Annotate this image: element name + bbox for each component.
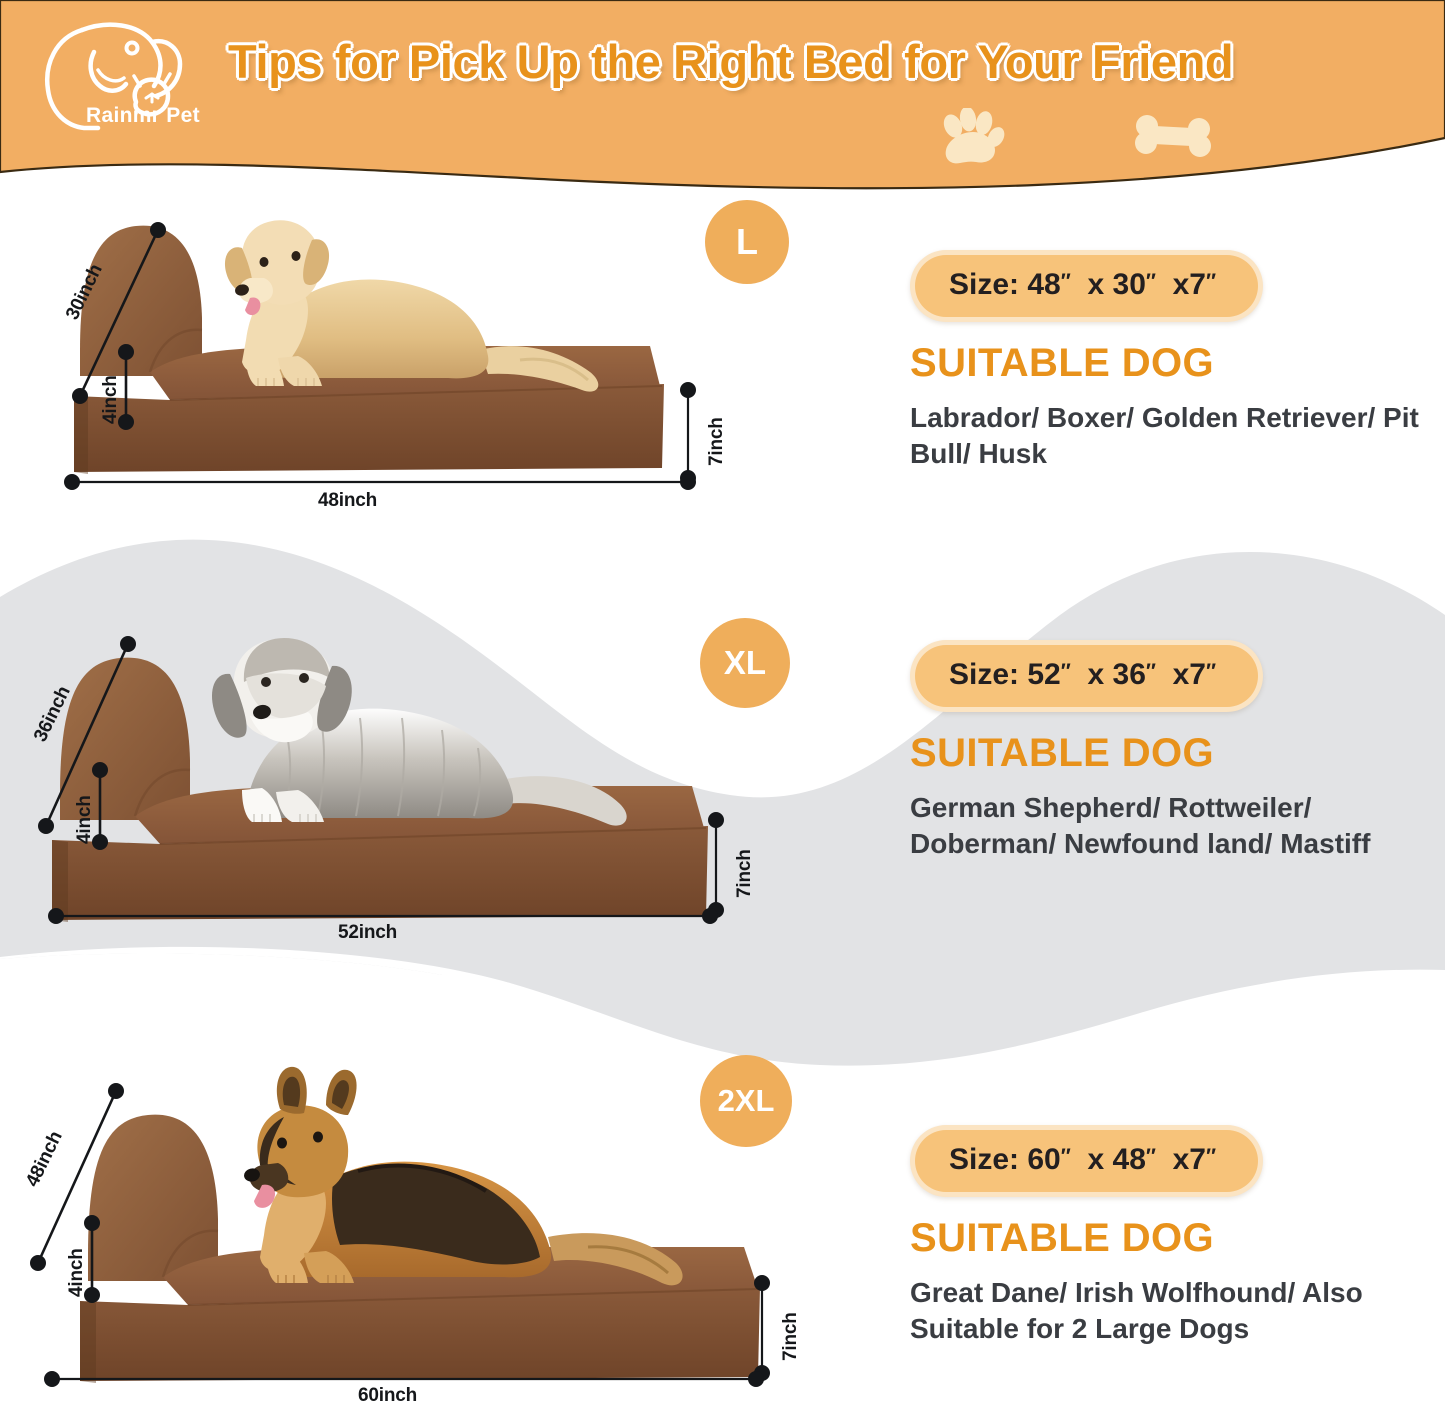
- suitable-breeds-L: Labrador/ Boxer/ Golden Retriever/ Pit B…: [910, 400, 1445, 473]
- size-pill-2XL: Size: 60″ x 48″ x7″: [910, 1125, 1263, 1197]
- info-panel-XL: Size: 52″ x 36″ x7″ SUITABLE DOG German …: [910, 640, 1445, 863]
- size-label-L: Size:: [949, 268, 1019, 301]
- size-width-L: 48: [1027, 268, 1060, 301]
- infographic-page: Rainmr Pet Tips for Pick Up the Right Be…: [0, 0, 1445, 1424]
- info-panel-L: Size: 48″ x 30″ x7″ SUITABLE DOG Labrado…: [910, 250, 1445, 473]
- product-section-XL: XL 36inch 4inch 7inch: [0, 600, 1445, 950]
- bone-icon: [1133, 112, 1213, 165]
- size-badge-XL: XL: [700, 618, 790, 708]
- product-section-L: L 30inch 4inch 7inch: [0, 190, 1445, 510]
- size-badge-L: L: [705, 200, 789, 284]
- suitable-heading-L: SUITABLE DOG: [910, 342, 1445, 384]
- dimension-label-height-XL: 7inch: [734, 849, 756, 898]
- size-height-XL: x7: [1173, 658, 1206, 691]
- header-banner: Rainmr Pet Tips for Pick Up the Right Be…: [0, 0, 1445, 200]
- size-width-2XL: 60: [1027, 1143, 1060, 1176]
- paw-print-icon: [935, 108, 1007, 171]
- suitable-heading-2XL: SUITABLE DOG: [910, 1217, 1445, 1259]
- suitable-breeds-2XL: Great Dane/ Irish Wolfhound/ Also Suitab…: [910, 1275, 1445, 1348]
- dimension-label-width-L: 48inch: [318, 490, 377, 512]
- dimension-line-width-L: [60, 472, 700, 492]
- size-label-2XL: Size:: [949, 1143, 1019, 1176]
- size-depth-2XL: 48: [1113, 1143, 1146, 1176]
- bed-illustration-2XL: [28, 1065, 818, 1405]
- dimension-label-width-2XL: 60inch: [358, 1385, 417, 1407]
- product-section-2XL: 2XL 48inch 4inch 7inch: [0, 1045, 1445, 1415]
- size-height-2XL: x7: [1173, 1143, 1206, 1176]
- dimension-label-bolster-2XL: 4inch: [66, 1248, 88, 1297]
- brand-name: Rainmr Pet: [86, 104, 200, 128]
- size-depth-XL: 36: [1113, 658, 1146, 691]
- dimension-label-height-L: 7inch: [706, 417, 728, 466]
- info-panel-2XL: Size: 60″ x 48″ x7″ SUITABLE DOG Great D…: [910, 1125, 1445, 1348]
- size-height-L: x7: [1173, 268, 1206, 301]
- size-pill-XL: Size: 52″ x 36″ x7″: [910, 640, 1263, 712]
- dimension-label-bolster-L: 4inch: [100, 375, 122, 424]
- suitable-breeds-XL: German Shepherd/ Rottweiler/ Doberman/ N…: [910, 790, 1445, 863]
- dimension-label-width-XL: 52inch: [338, 922, 397, 944]
- dimension-label-height-2XL: 7inch: [780, 1312, 802, 1361]
- size-depth-L: 30: [1113, 268, 1146, 301]
- suitable-heading-XL: SUITABLE DOG: [910, 732, 1445, 774]
- size-pill-L: Size: 48″ x 30″ x7″: [910, 250, 1263, 322]
- size-width-XL: 52: [1027, 658, 1060, 691]
- size-badge-2XL: 2XL: [700, 1055, 792, 1147]
- page-title: Tips for Pick Up the Right Bed for Your …: [228, 34, 1418, 89]
- size-label-XL: Size:: [949, 658, 1019, 691]
- dimension-label-bolster-XL: 4inch: [74, 795, 96, 844]
